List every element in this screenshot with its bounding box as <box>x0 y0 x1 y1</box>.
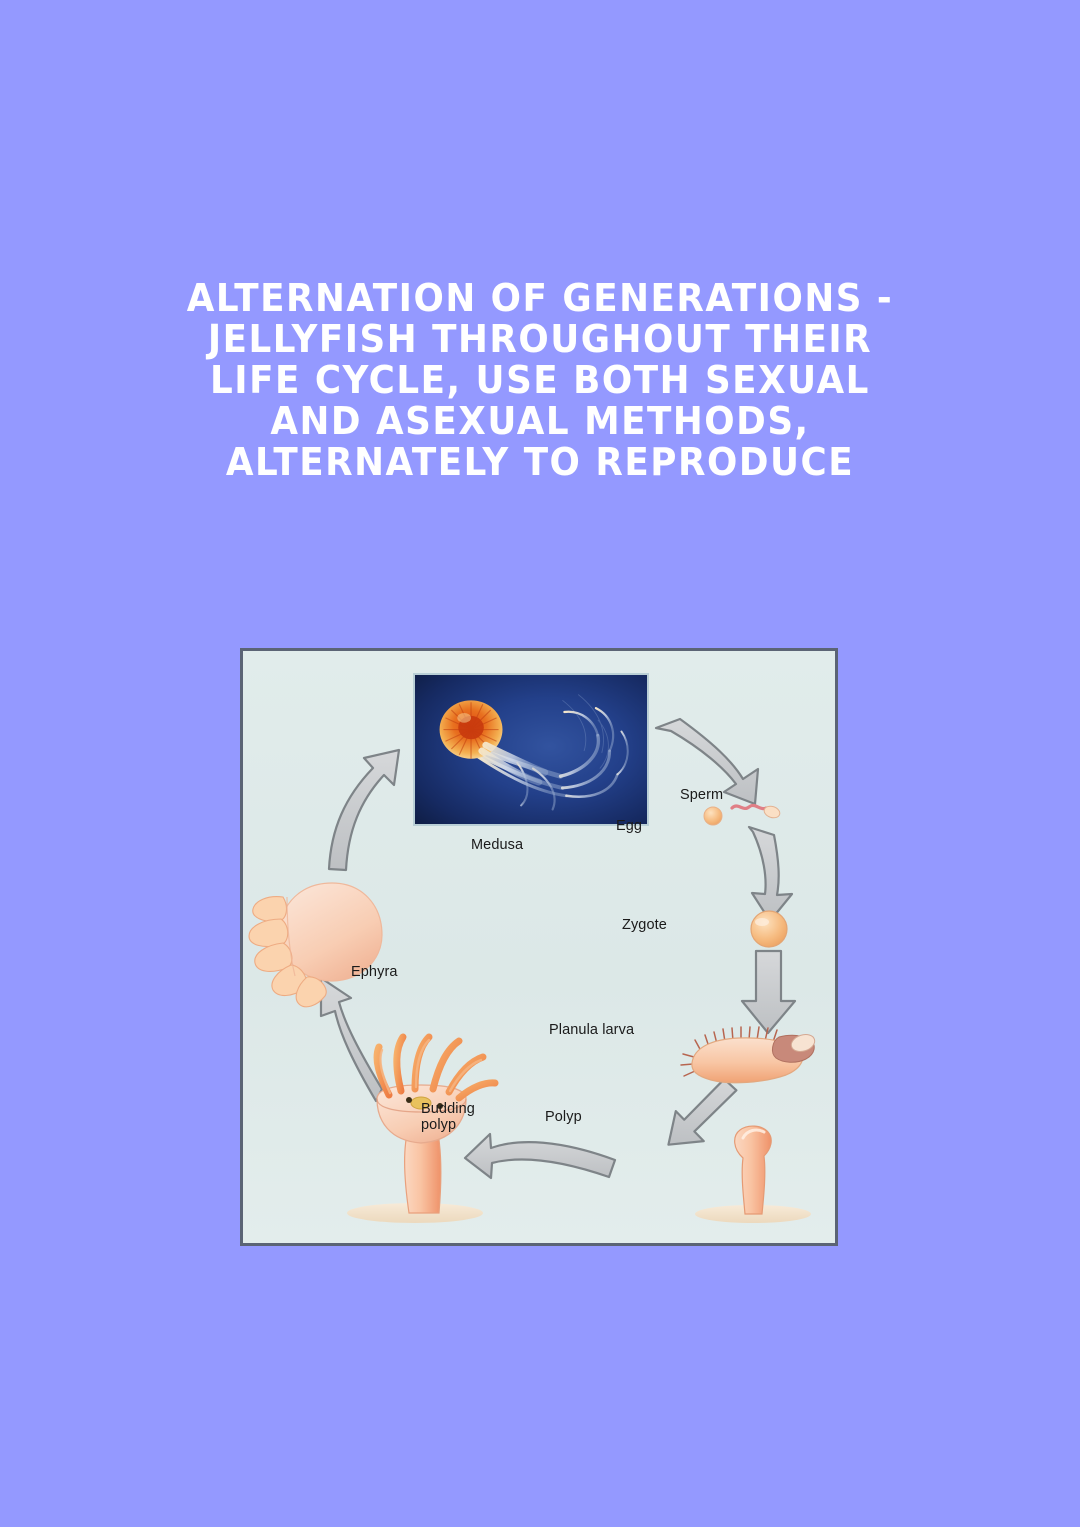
label-polyp: Polyp <box>545 1109 582 1125</box>
jellyfish-life-cycle-diagram: Medusa Sperm Egg Zygote Planula larva Po… <box>240 648 838 1246</box>
arrow-gametes-to-zygote <box>749 827 792 921</box>
ephyra-illustration <box>249 883 382 1007</box>
zygote-illustration <box>751 911 787 947</box>
medusa-photo-content <box>415 675 647 824</box>
medusa-photograph <box>413 673 649 826</box>
label-ephyra: Ephyra <box>351 964 398 980</box>
egg-illustration <box>704 807 722 825</box>
arrow-polyp-to-budding-polyp <box>465 1134 615 1178</box>
label-sperm: Sperm <box>680 787 723 803</box>
title-line-3: life cycle, use both sexual <box>32 360 1047 401</box>
label-medusa: Medusa <box>471 837 523 853</box>
title-line-5: alternately to reproduce <box>32 442 1047 483</box>
label-zygote: Zygote <box>622 917 667 933</box>
page-title: Alternation of Generations - Jellyfish t… <box>0 278 1080 483</box>
label-budding-polyp: Budding polyp <box>421 1101 475 1133</box>
title-line-4: and asexual methods, <box>32 401 1047 442</box>
title-line-1: Alternation of Generations - <box>32 278 1047 319</box>
polyp-illustration <box>695 1126 811 1223</box>
planula-larva-illustration <box>681 1027 817 1083</box>
arrow-ephyra-to-medusa <box>329 750 399 870</box>
sperm-illustration <box>732 804 781 819</box>
label-egg: Egg <box>616 818 642 834</box>
diagram-canvas: Medusa Sperm Egg Zygote Planula larva Po… <box>243 651 835 1243</box>
arrow-budding-polyp-to-ephyra <box>321 978 382 1101</box>
title-line-2: Jellyfish throughout their <box>32 319 1047 360</box>
arrow-zygote-to-planula <box>742 951 795 1033</box>
label-planula-larva: Planula larva <box>549 1022 634 1038</box>
